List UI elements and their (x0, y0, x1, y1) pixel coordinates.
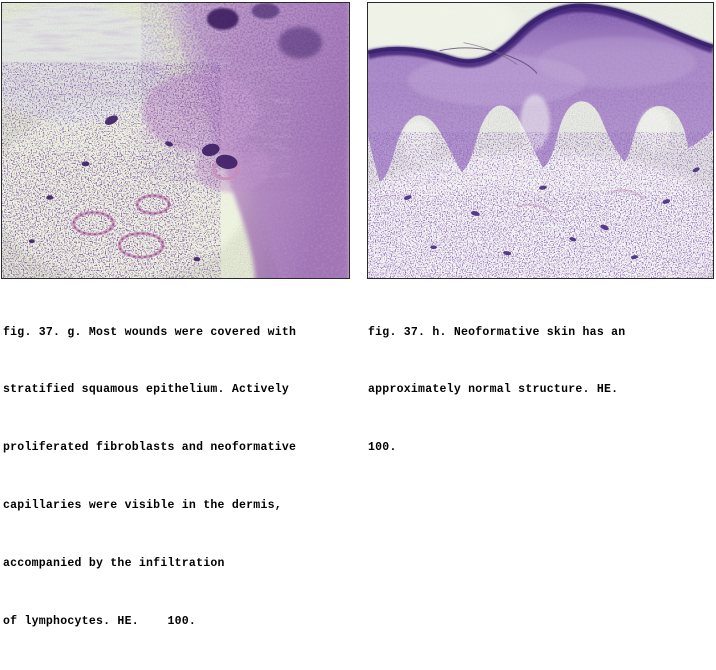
caption-line: fig. 37. h. Neoformative skin has an (368, 323, 712, 342)
caption-fig-37-h: fig. 37. h. Neoformative skin has an app… (368, 284, 712, 496)
figure-captions: fig. 37. g. Most wounds were covered wit… (0, 284, 716, 411)
histology-micrograph-neoformative-skin (368, 3, 713, 278)
caption-line: stratified squamous epithelium. Actively (3, 380, 355, 399)
caption-line: of lymphocytes. HE. 100. (3, 612, 355, 631)
caption-line: proliferated fibroblasts and neoformativ… (3, 438, 355, 457)
caption-line: accompanied by the infiltration (3, 554, 355, 573)
caption-line: capillaries were visible in the dermis, (3, 496, 355, 515)
histology-micrograph-wound-epithelium (2, 3, 349, 278)
figure-row (0, 0, 716, 284)
caption-fig-37-g: fig. 37. g. Most wounds were covered wit… (3, 284, 355, 670)
caption-line: 100. (368, 438, 712, 457)
caption-line: fig. 37. g. Most wounds were covered wit… (3, 323, 355, 342)
caption-line: approximately normal structure. HE. (368, 380, 712, 399)
figure-panel-fig-37-g (1, 2, 350, 279)
figure-panel-fig-37-h (367, 2, 714, 279)
